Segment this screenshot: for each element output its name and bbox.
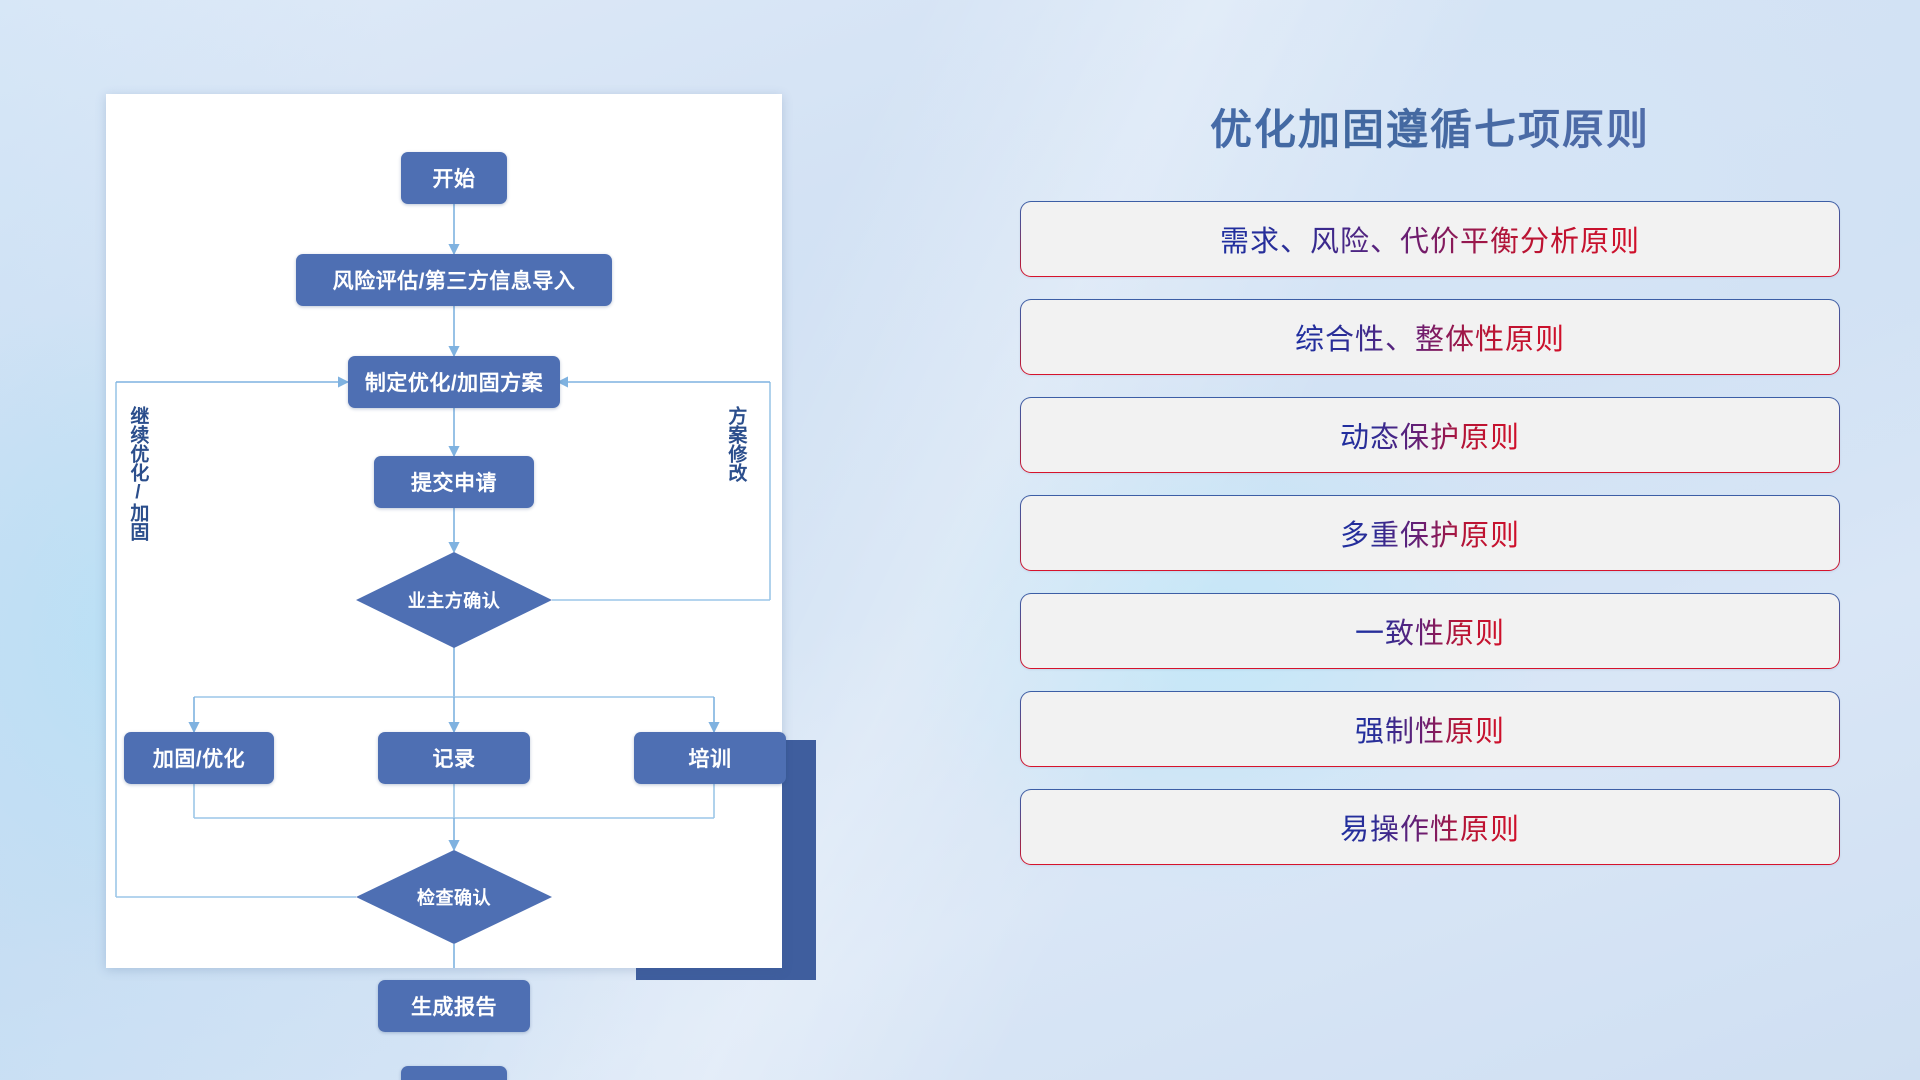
principle-item[interactable]: 易操作性原则 (1020, 789, 1840, 865)
principle-item[interactable]: 综合性、整体性原则 (1020, 299, 1840, 375)
flow-node-plan[interactable]: 制定优化/加固方案 (348, 356, 560, 408)
flow-node-record[interactable]: 记录 (378, 732, 530, 784)
flow-node-label: 业主方确认 (408, 587, 501, 613)
flow-node-risk-assessment[interactable]: 风险评估/第三方信息导入 (296, 254, 612, 306)
flow-node-report[interactable]: 生成报告 (378, 980, 530, 1032)
principle-label: 强制性原则 (1355, 708, 1505, 750)
flow-node-end[interactable]: 结束 (401, 1066, 507, 1080)
principle-item[interactable]: 需求、风险、代价平衡分析原则 (1020, 201, 1840, 277)
flow-node-label: 检查确认 (417, 884, 491, 910)
flow-node-start[interactable]: 开始 (401, 152, 507, 204)
flow-node-owner-confirm[interactable]: 业主方确认 (356, 552, 552, 648)
flow-node-check-confirm[interactable]: 检查确认 (356, 850, 552, 944)
principle-item[interactable]: 一致性原则 (1020, 593, 1840, 669)
principles-panel: 优化加固遵循七项原则 需求、风险、代价平衡分析原则 综合性、整体性原则 动态保护… (1020, 96, 1840, 1006)
principle-label: 需求、风险、代价平衡分析原则 (1220, 218, 1640, 260)
flow-node-label: 提交申请 (411, 467, 497, 497)
flow-node-label: 结束 (433, 1076, 476, 1080)
principles-title: 优化加固遵循七项原则 (1020, 96, 1840, 157)
flow-node-label: 开始 (433, 163, 476, 193)
flow-node-reinforce[interactable]: 加固/优化 (124, 732, 274, 784)
flowchart-connectors (106, 94, 782, 968)
flow-node-label: 培训 (689, 743, 732, 773)
flow-node-label: 记录 (433, 743, 476, 773)
principle-label: 综合性、整体性原则 (1295, 316, 1565, 358)
principle-label: 易操作性原则 (1340, 806, 1520, 848)
principle-label: 多重保护原则 (1340, 512, 1520, 554)
flow-node-submit[interactable]: 提交申请 (374, 456, 534, 508)
flow-edge-label-right-loop: 方案修改 (726, 406, 745, 482)
principle-item[interactable]: 强制性原则 (1020, 691, 1840, 767)
flowchart-card: 开始 风险评估/第三方信息导入 制定优化/加固方案 提交申请 业主方确认 加固/… (106, 94, 782, 968)
flow-node-label: 制定优化/加固方案 (365, 367, 543, 397)
flow-node-label: 风险评估/第三方信息导入 (333, 265, 576, 295)
flow-node-label: 加固/优化 (153, 743, 245, 773)
flow-node-training[interactable]: 培训 (634, 732, 786, 784)
flow-node-label: 生成报告 (411, 991, 497, 1021)
principle-item[interactable]: 动态保护原则 (1020, 397, 1840, 473)
principle-label: 动态保护原则 (1340, 414, 1520, 456)
slide-root: 开始 风险评估/第三方信息导入 制定优化/加固方案 提交申请 业主方确认 加固/… (0, 0, 1920, 1080)
principle-item[interactable]: 多重保护原则 (1020, 495, 1840, 571)
principles-list: 需求、风险、代价平衡分析原则 综合性、整体性原则 动态保护原则 多重保护原则 一… (1020, 201, 1840, 865)
flow-edge-label-left-loop: 继续优化/加固 (128, 406, 147, 541)
principle-label: 一致性原则 (1355, 610, 1505, 652)
